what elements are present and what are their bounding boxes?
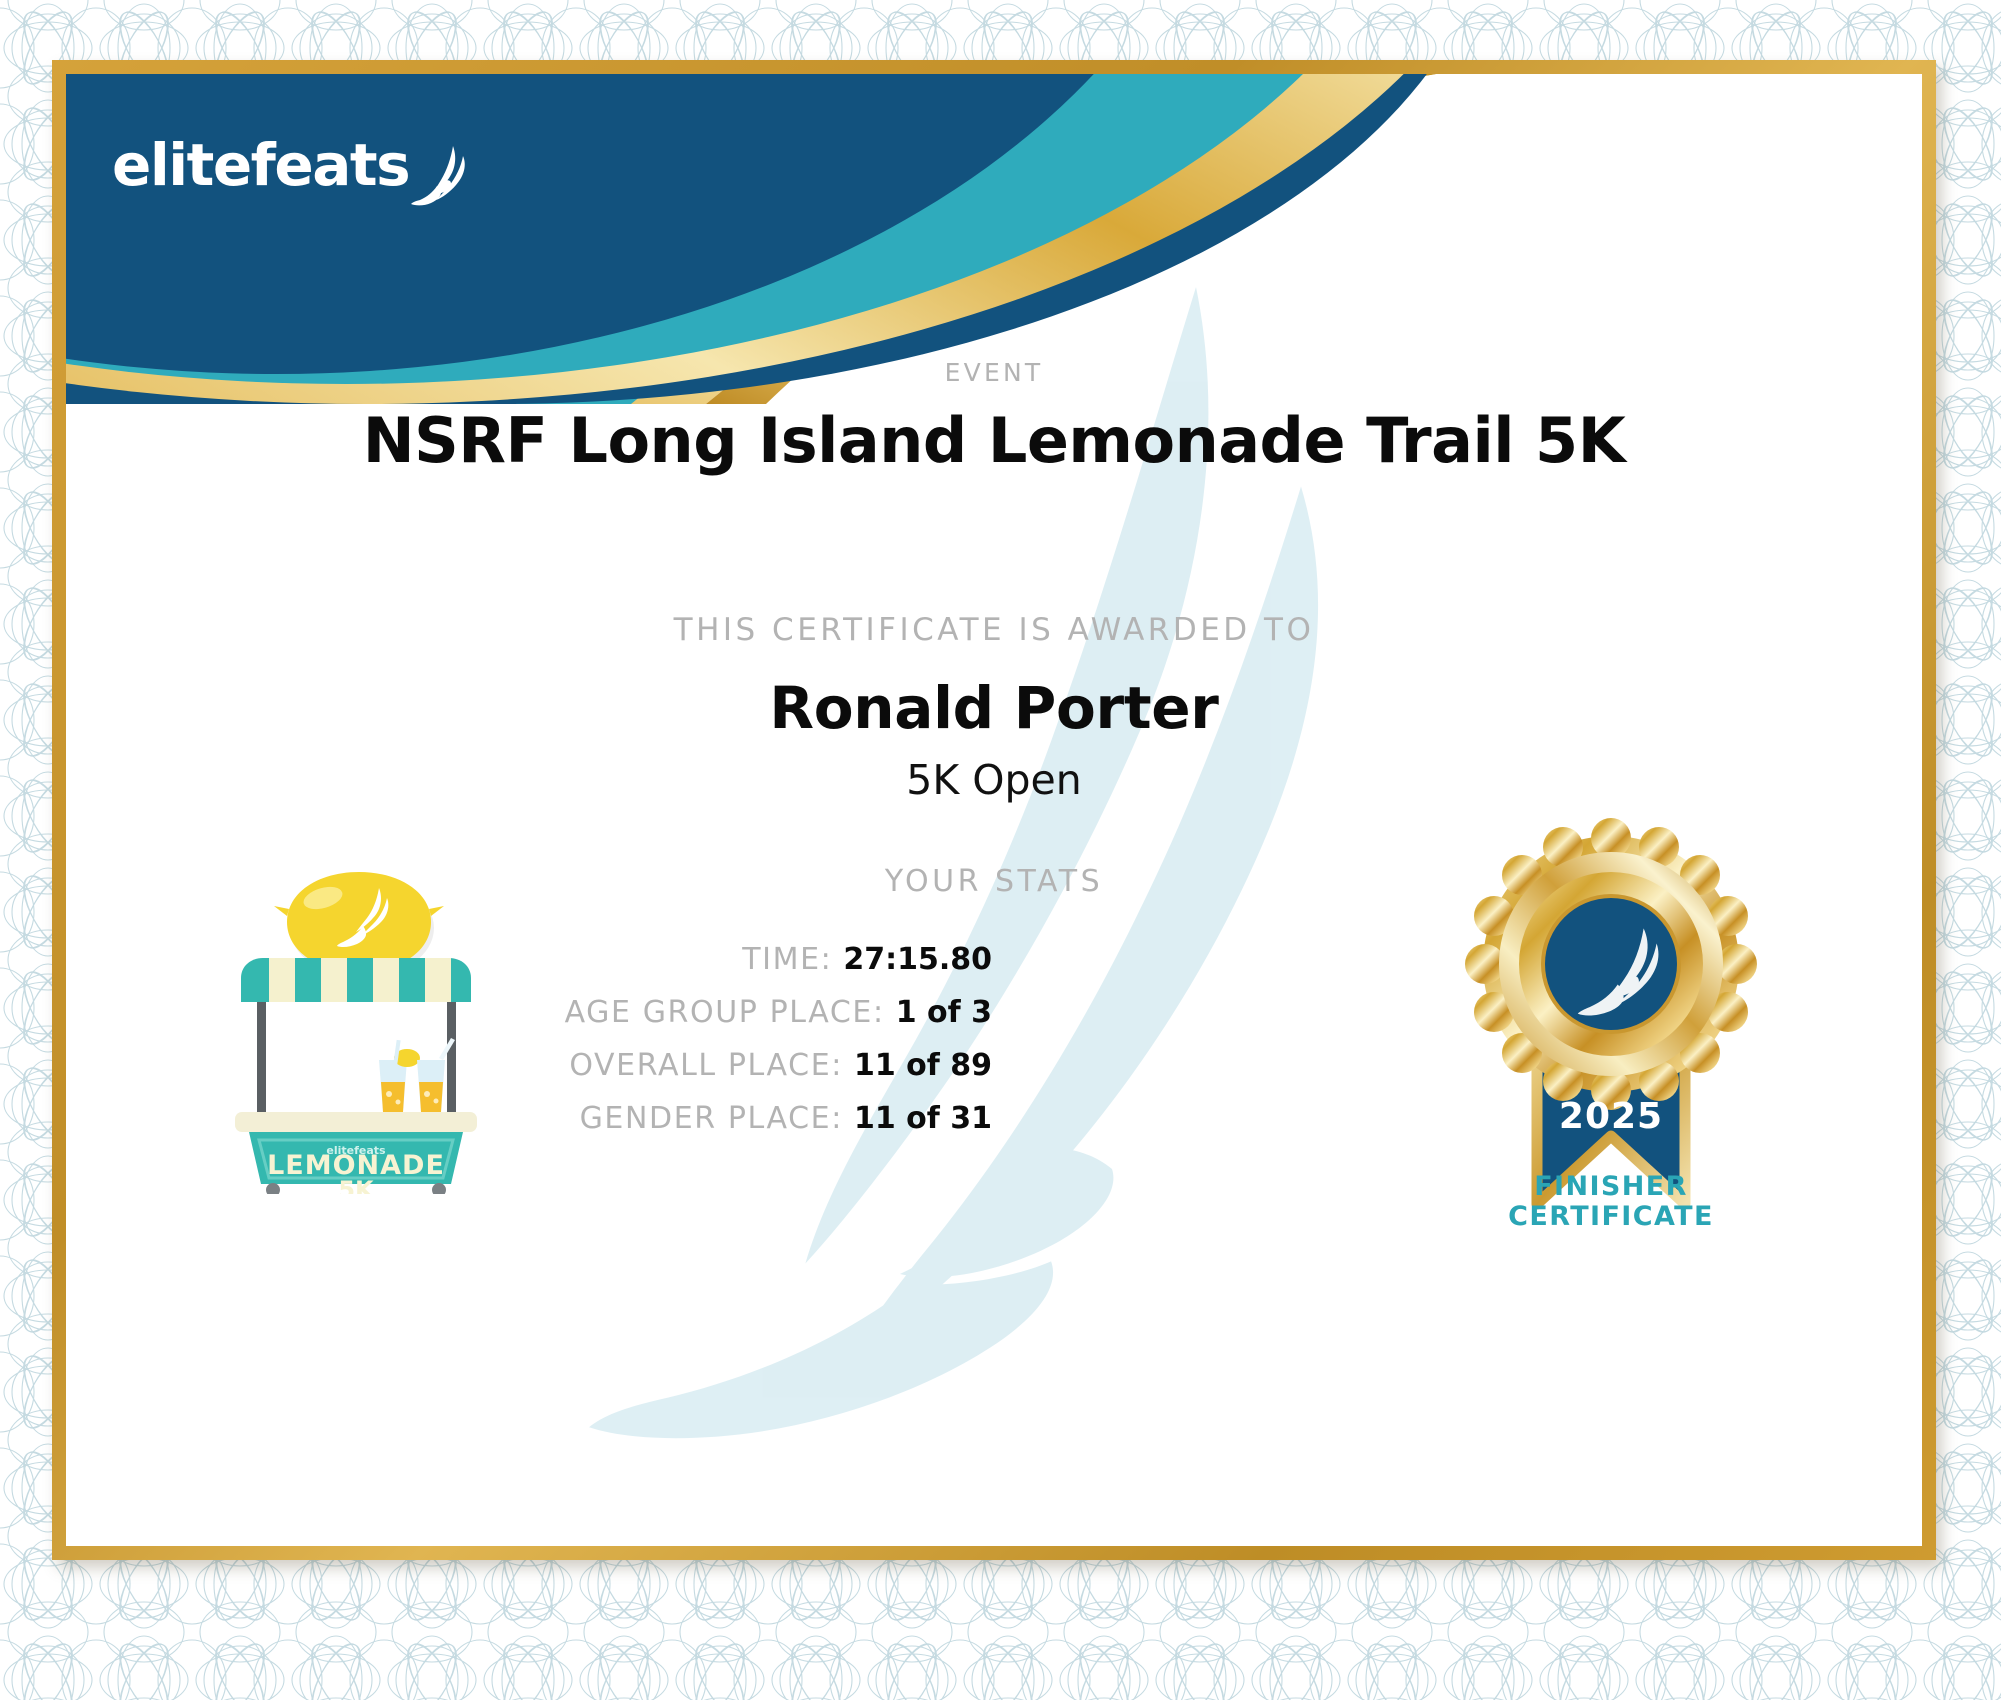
stand-line2-text: 5K [338,1176,375,1194]
logo-wordmark: elitefeats [112,136,409,194]
stat-value: 1 of 3 [896,995,992,1030]
certificate-page: elitefeats EVENT NSRF Long Island Lemona… [0,0,2001,1700]
finisher-certificate-caption: FINISHER CERTIFICATE [1451,1172,1771,1232]
division-label: 5K Open [66,756,1922,804]
event-title: NSRF Long Island Lemonade Trail 5K [66,404,1922,477]
stat-label: GENDER PLACE: [580,1101,843,1136]
stat-value: 11 of 31 [854,1101,992,1136]
finisher-line2: CERTIFICATE [1451,1202,1771,1232]
event-label: EVENT [66,358,1922,387]
awarded-to-label: THIS CERTIFICATE IS AWARDED TO [66,612,1922,648]
stat-label: AGE GROUP PLACE: [565,995,885,1030]
stat-value: 27:15.80 [843,942,992,977]
gold-frame-border: elitefeats EVENT NSRF Long Island Lemona… [52,60,1936,1560]
stat-label: OVERALL PLACE: [569,1048,843,1083]
stat-value: 11 of 89 [854,1048,992,1083]
recipient-name: Ronald Porter [66,674,1922,742]
stat-label: TIME: [742,942,832,977]
winged-foot-icon [411,144,473,208]
elitefeats-logo: elitefeats [112,136,473,194]
finisher-line1: FINISHER [1451,1172,1771,1202]
medal-year-text: 2025 [1559,1096,1663,1137]
lemonade-stand-icon: elitefeats LEMONADE 5K [211,854,501,1194]
certificate-body: elitefeats EVENT NSRF Long Island Lemona… [66,74,1922,1546]
